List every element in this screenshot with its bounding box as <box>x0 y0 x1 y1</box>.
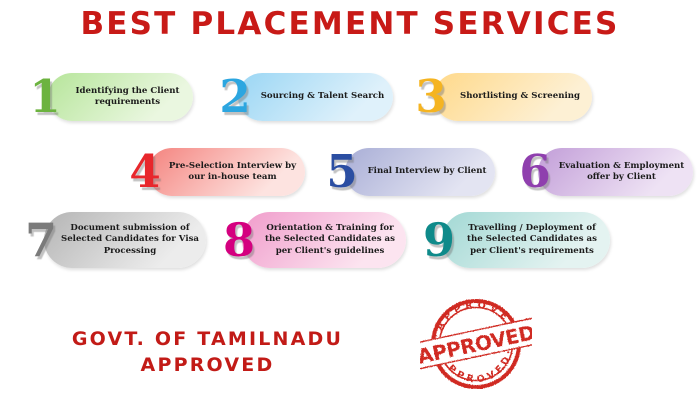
step-item[interactable]: 2 Sourcing & Talent Search <box>218 73 393 121</box>
step-label: Travelling / Deployment of the Selected … <box>454 212 610 268</box>
step-label: Sourcing & Talent Search <box>252 73 393 121</box>
footer-line-2: APPROVED <box>35 352 380 378</box>
step-number: 2 <box>218 73 252 121</box>
step-item[interactable]: 4 Pre-Selection Interview by our in-hous… <box>128 148 305 196</box>
step-item[interactable]: 8 Orientation & Training for the Selecte… <box>222 212 406 268</box>
step-number: 8 <box>222 212 256 268</box>
step-item[interactable]: 6 Evaluation & Employment offer by Clien… <box>518 148 693 196</box>
footer-approval-text: GOVT. OF TAMILNADU APPROVED <box>35 326 380 378</box>
step-item[interactable]: 7 Document submission of Selected Candid… <box>24 212 206 268</box>
step-item[interactable]: 1 Identifying the Client requirements <box>28 73 193 121</box>
step-number: 7 <box>24 212 58 268</box>
step-item[interactable]: 5 Final Interview by Client <box>325 148 495 196</box>
step-number: 3 <box>414 73 448 121</box>
step-number: 1 <box>28 73 62 121</box>
step-label: Document submission of Selected Candidat… <box>54 212 206 268</box>
step-label: Pre-Selection Interview by our in-house … <box>160 148 305 196</box>
approved-stamp-icon: · A P P R O V E D · · A P P R O V E D · … <box>420 292 532 392</box>
step-number: 6 <box>518 148 552 196</box>
step-label: Orientation & Training for the Selected … <box>254 212 406 268</box>
step-item[interactable]: 9 Travelling / Deployment of the Selecte… <box>422 212 610 268</box>
step-label: Final Interview by Client <box>359 148 495 196</box>
step-label: Identifying the Client requirements <box>62 73 193 121</box>
step-number: 9 <box>422 212 456 268</box>
footer-line-1: GOVT. OF TAMILNADU <box>35 326 380 352</box>
step-number: 4 <box>128 148 162 196</box>
step-number: 5 <box>325 148 359 196</box>
step-label: Shortlisting & Screening <box>448 73 592 121</box>
stamp-graphic: · A P P R O V E D · · A P P R O V E D · … <box>420 300 532 387</box>
step-label: Evaluation & Employment offer by Client <box>550 148 693 196</box>
process-steps-container: 1 Identifying the Client requirements 2 … <box>0 0 700 300</box>
step-item[interactable]: 3 Shortlisting & Screening <box>414 73 592 121</box>
